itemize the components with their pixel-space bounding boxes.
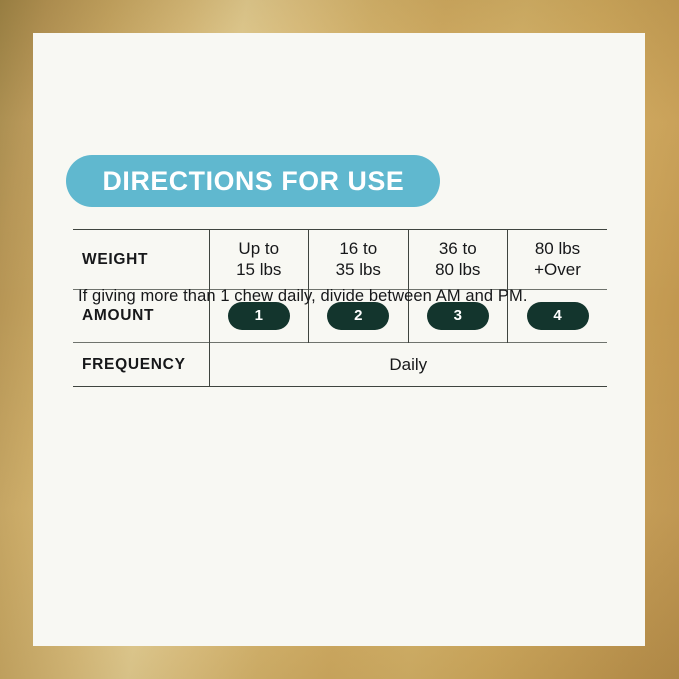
weight-cell-4-line2: +Over [508,260,607,280]
weight-cell-4: 80 lbs +Over [508,230,608,290]
weight-cell-3-line1: 36 to [409,239,508,259]
weight-cell-4-line1: 80 lbs [508,239,607,259]
weight-cell-2-line1: 16 to [309,239,408,259]
product-label-card: DIRECTIONS FOR USE WEIGHT Up to 15 lbs [0,0,679,679]
row-header-weight: WEIGHT [73,230,209,290]
directions-header-title: DIRECTIONS FOR USE [102,168,404,195]
dosing-footnote: If giving more than 1 chew daily, divide… [78,287,623,306]
dosing-table: WEIGHT Up to 15 lbs 16 to 35 lbs 36 to 8… [73,229,607,387]
weight-cell-2-line2: 35 lbs [309,260,408,280]
table-row-weight: WEIGHT Up to 15 lbs 16 to 35 lbs 36 to 8… [73,230,607,290]
chew-count-pill-1: 1 [228,302,290,330]
weight-cell-3: 36 to 80 lbs [408,230,508,290]
weight-cell-1-line2: 15 lbs [210,260,309,280]
weight-cell-2: 16 to 35 lbs [309,230,409,290]
row-header-frequency: FREQUENCY [73,343,209,387]
weight-cell-1-line1: Up to [210,239,309,259]
directions-panel: DIRECTIONS FOR USE WEIGHT Up to 15 lbs [33,33,645,646]
directions-header-badge: DIRECTIONS FOR USE [66,155,440,207]
chew-count-pill-2: 2 [327,302,389,330]
table-row-frequency: FREQUENCY Daily [73,343,607,387]
chew-count-pill-4: 4 [527,302,589,330]
frequency-value: Daily [209,343,607,387]
chew-count-pill-3: 3 [427,302,489,330]
weight-cell-1: Up to 15 lbs [209,230,309,290]
weight-cell-3-line2: 80 lbs [409,260,508,280]
